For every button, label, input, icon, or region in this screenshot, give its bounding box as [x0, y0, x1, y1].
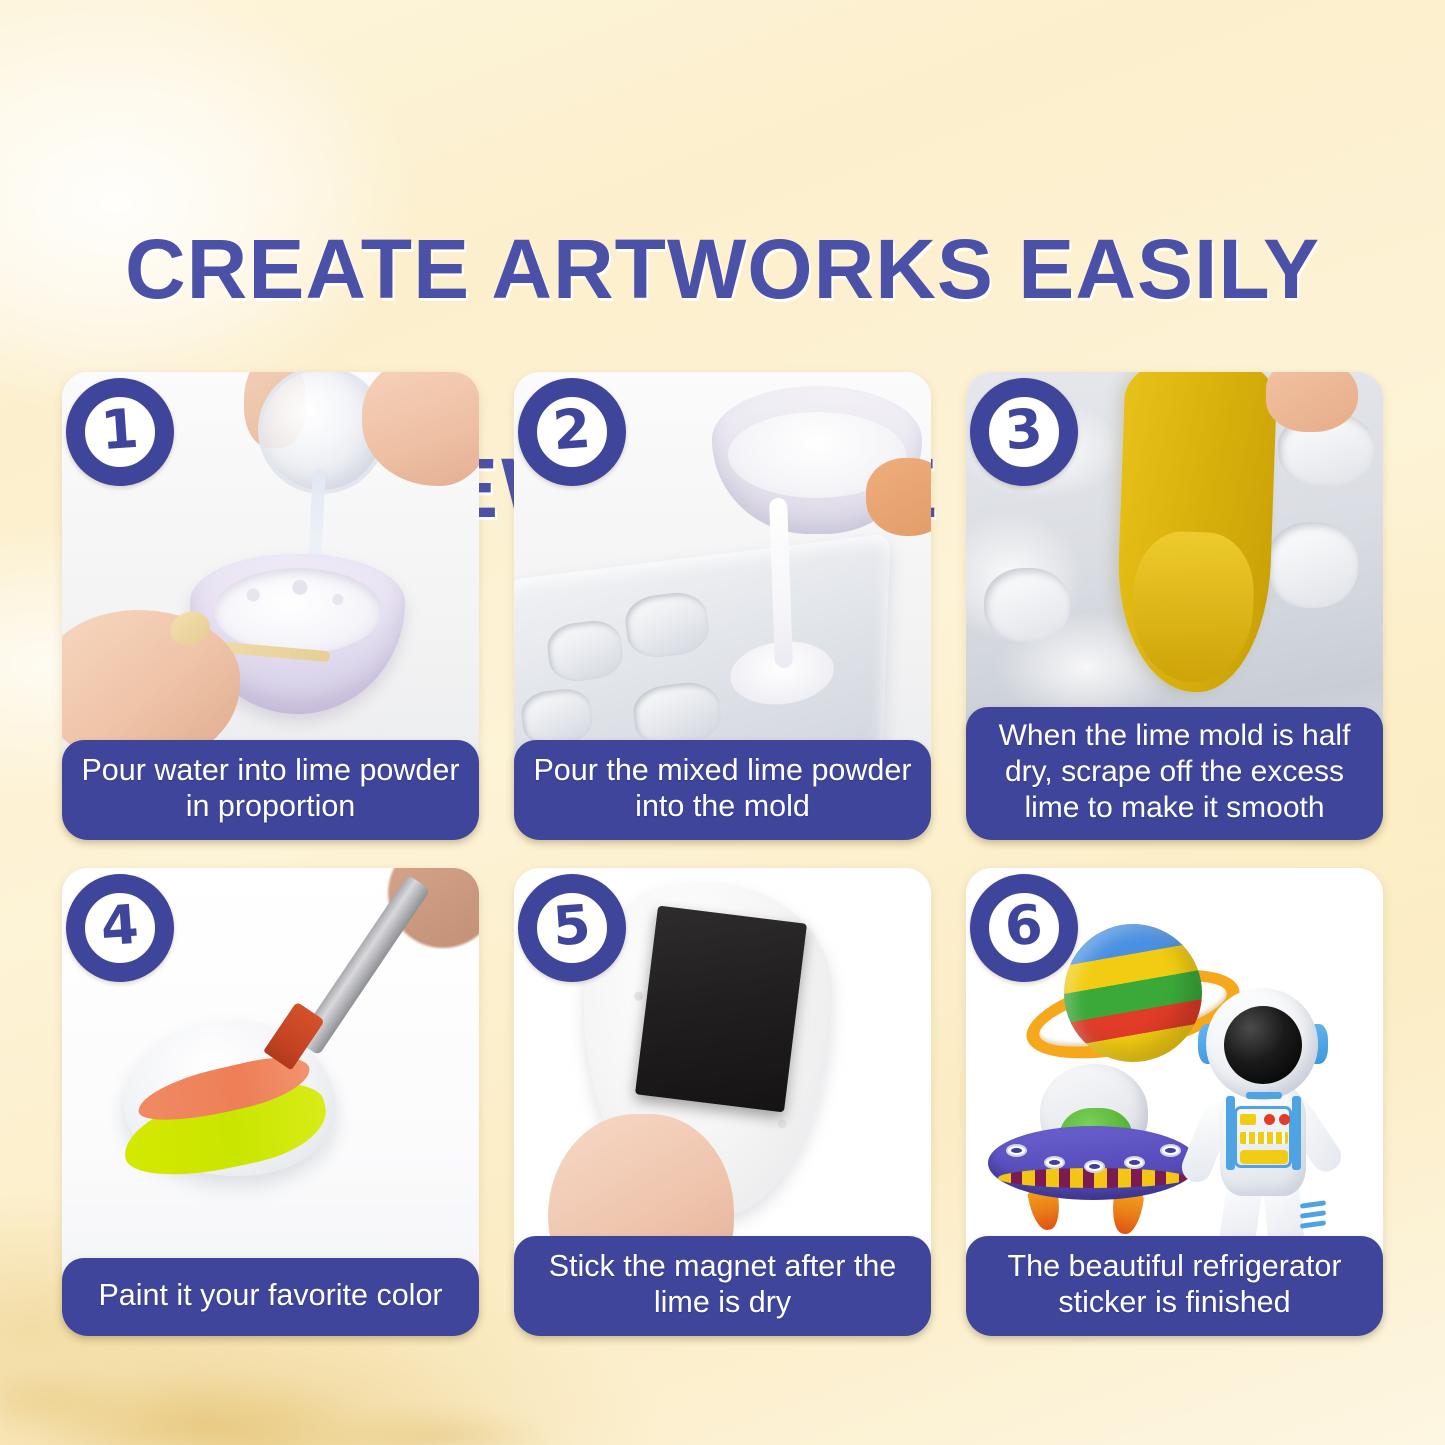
step-number-5: 5 [551, 898, 592, 954]
step-badge-3: 3 [970, 378, 1078, 486]
step-number-4: 4 [99, 898, 140, 954]
step-card-1: 1 Pour water into lime powder in proport… [62, 372, 479, 840]
step-card-5: 5 Stick the magnet after the lime is dry [514, 868, 931, 1336]
step-caption-6: The beautiful refrigerator sticker is fi… [966, 1236, 1383, 1336]
astronaut-magnet-art [1174, 988, 1354, 1238]
step-badge-4: 4 [66, 874, 174, 982]
step-caption-4: Paint it your favorite color [62, 1258, 479, 1336]
step-card-2: 2 Pour the mixed lime powder into the mo… [514, 372, 931, 840]
step-badge-6: 6 [970, 874, 1078, 982]
step-badge-5: 5 [518, 874, 626, 982]
step-card-3: 3 When the lime mold is half dry, scrape… [966, 372, 1383, 840]
ufo-magnet-art [988, 1064, 1198, 1232]
step-number-3: 3 [1003, 402, 1044, 458]
step-caption-2: Pour the mixed lime powder into the mold [514, 740, 931, 840]
step-number-6: 6 [1003, 898, 1044, 954]
step-caption-5: Stick the magnet after the lime is dry [514, 1236, 931, 1336]
steps-grid: 1 Pour water into lime powder in proport… [62, 372, 1384, 1336]
step-caption-3: When the lime mold is half dry, scrape o… [966, 707, 1383, 840]
step-card-4: 4 Paint it your favorite color [62, 868, 479, 1336]
step-number-2: 2 [551, 402, 592, 458]
step-badge-1: 1 [66, 378, 174, 486]
step-card-6: 6 The beautiful refrigerator sticker is … [966, 868, 1383, 1336]
step-number-1: 1 [99, 402, 140, 458]
step-caption-1: Pour water into lime powder in proportio… [62, 740, 479, 840]
title-line-1: CREATE ARTWORKS EASILY [0, 215, 1445, 324]
step-badge-2: 2 [518, 378, 626, 486]
